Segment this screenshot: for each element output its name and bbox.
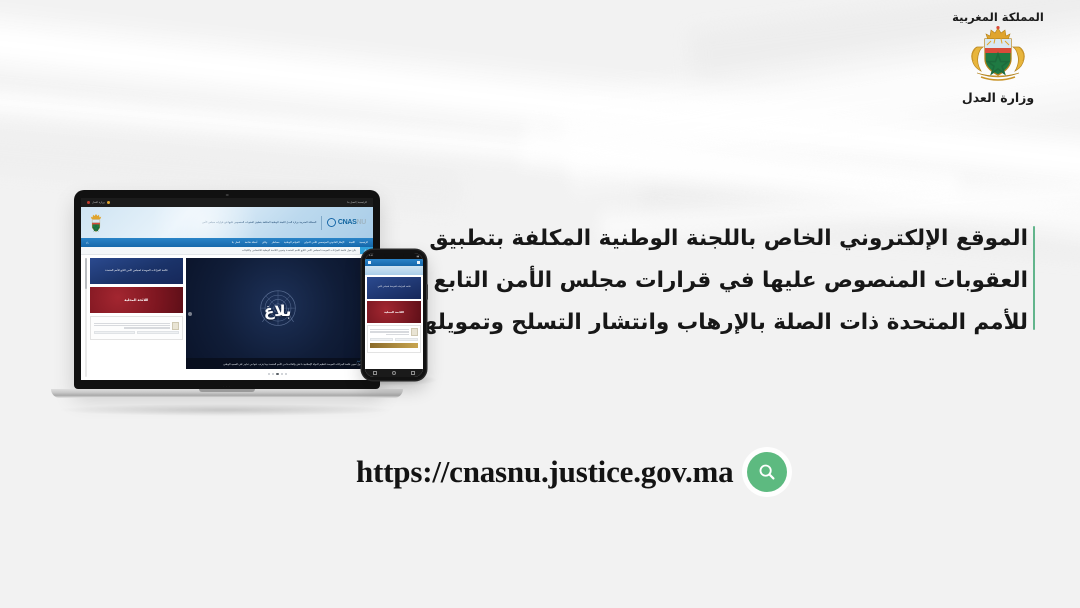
phone-site-header xyxy=(365,259,423,266)
nav-item-documents[interactable]: وثائق xyxy=(262,241,267,244)
carousel-dot[interactable] xyxy=(268,373,270,375)
carousel-dot[interactable] xyxy=(285,373,287,375)
nav-item-contact[interactable]: اتصل بنا xyxy=(232,241,240,244)
phone-screen: 9:41 ▮▮ قائمة الجزاءات الموحدة لمجلس الأ… xyxy=(365,253,423,377)
nav-item-faq[interactable]: أسئلة شائعة xyxy=(245,241,258,244)
phone-status-indicators: ▮▮ xyxy=(417,255,419,258)
phone-notch xyxy=(384,254,404,258)
phone-navigation-bar[interactable] xyxy=(365,369,423,377)
topbar-brand: وزارة العدل xyxy=(92,201,105,204)
hero-carousel[interactable]: بلاغ آخر الأخبار بلاغ حول تحيين قائمة ال… xyxy=(186,258,369,369)
home-icon[interactable] xyxy=(392,371,396,375)
site-body: بلاغ آخر الأخبار بلاغ حول تحيين قائمة ال… xyxy=(81,255,373,380)
phone-card-document[interactable] xyxy=(367,325,421,353)
sidebar-card-consolidated-list[interactable]: قائمة الجزاءات الموحدة لمجلس الأمن التاب… xyxy=(90,258,184,284)
carousel-caption: آخر الأخبار بلاغ حول تحيين قائمة الجزاءا… xyxy=(186,358,369,369)
ministry-label: وزارة العدل xyxy=(938,90,1058,105)
phone-document-row xyxy=(370,328,418,336)
recents-icon[interactable] xyxy=(411,371,415,375)
search-badge[interactable] xyxy=(747,452,787,492)
laptop-shadow xyxy=(60,404,390,416)
document-text-lines xyxy=(94,323,171,329)
document-thumbnail-icon xyxy=(411,328,418,336)
site-header-right: المملكة المغربية وزارة العدل اللجنة الوط… xyxy=(202,216,366,230)
moroccan-coat-of-arms-icon xyxy=(961,25,1035,89)
topbar-dot xyxy=(107,201,110,204)
hamburger-icon[interactable] xyxy=(368,261,371,264)
news-ticker: أخبار بلاغ حول قائمة الجزاءات الموحدة لم… xyxy=(81,247,373,255)
sidebar-card-document-buttons xyxy=(94,331,180,334)
sidebar-card-document-row xyxy=(94,322,180,330)
cnasnu-logo[interactable]: CNASNU xyxy=(327,218,366,227)
ministry-emblem: المملكة المغربية وزارة العدل xyxy=(938,10,1058,105)
cnasnu-logo-text: CNASNU xyxy=(338,219,366,226)
nav-item-committee[interactable]: اللجنة xyxy=(349,241,355,244)
website-url-row[interactable]: https://cnasnu.justice.gov.ma xyxy=(356,452,787,492)
news-ticker-text[interactable]: بلاغ حول قائمة الجزاءات الموحدة لمجلس ال… xyxy=(238,249,360,252)
laptop-brand-mark: · · · xyxy=(74,384,380,388)
cnasnu-logo-part2: NU xyxy=(356,219,366,226)
topbar-dot xyxy=(87,201,90,204)
back-icon[interactable] xyxy=(373,371,377,375)
search-icon xyxy=(756,461,778,483)
headline-accent-bar xyxy=(1033,226,1035,330)
phone-gold-banner xyxy=(370,343,418,348)
site-header: المملكة المغربية وزارة العدل اللجنة الوط… xyxy=(81,207,373,238)
laptop-camera-icon xyxy=(226,194,229,197)
phone-body: قائمة الجزاءات الموحدة لمجلس الأمن اللائ… xyxy=(365,275,423,369)
document-text-lines xyxy=(370,329,409,335)
document-more-button[interactable] xyxy=(94,331,136,334)
laptop-lid: وزارة العدل الرئيسية | اتصل بنا xyxy=(74,190,380,389)
phone-mockup: 9:41 ▮▮ قائمة الجزاءات الموحدة لمجلس الأ… xyxy=(362,250,426,380)
document-download-button[interactable] xyxy=(395,338,418,341)
document-more-button[interactable] xyxy=(370,338,393,341)
sidebar-card-local-list[interactable]: اللائحة المحلية xyxy=(90,287,184,313)
site-header-ministry-text: المملكة المغربية وزارة العدل اللجنة الوط… xyxy=(202,221,316,225)
carousel-prev-icon[interactable] xyxy=(188,312,192,316)
user-icon[interactable] xyxy=(417,261,420,264)
nav-item-home[interactable]: الرئيسية xyxy=(359,241,368,244)
home-icon[interactable]: ⌂ xyxy=(86,240,88,245)
phone-hero-banner xyxy=(365,266,423,275)
site-header-crest-icon xyxy=(88,212,104,234)
laptop-screen: وزارة العدل الرئيسية | اتصل بنا xyxy=(81,198,373,380)
cnasnu-website: وزارة العدل الرئيسية | اتصل بنا xyxy=(81,198,373,380)
document-download-button[interactable] xyxy=(137,331,179,334)
website-url-text[interactable]: https://cnasnu.justice.gov.ma xyxy=(356,454,733,490)
nav-item-legal-framework[interactable]: الإطار القانوني المؤسسي للأمن الدولي xyxy=(304,241,344,244)
phone-card-consolidated-list[interactable]: قائمة الجزاءات الموحدة لمجلس الأمن xyxy=(367,277,421,299)
phone-status-time: 9:41 xyxy=(369,255,373,257)
carousel-dot[interactable] xyxy=(281,373,283,375)
site-header-divider xyxy=(321,216,322,230)
phone-card-local-list[interactable]: اللائحة المحلية xyxy=(367,301,421,323)
headline-line-1: الموقع الإلكتروني الخاص باللجنة الوطنية … xyxy=(470,218,1028,260)
kingdom-label: المملكة المغربية xyxy=(938,10,1058,24)
site-main-column: بلاغ آخر الأخبار بلاغ حول تحيين قائمة ال… xyxy=(186,258,369,377)
site-nav-items: الرئيسية اللجنة الإطار القانوني المؤسسي … xyxy=(232,241,368,244)
headline-line-2: العقوبات المنصوص عليها في قرارات مجلس ال… xyxy=(470,260,1028,302)
nav-item-procedures[interactable]: مساطر xyxy=(272,241,280,244)
page-scrollbar[interactable] xyxy=(85,258,87,377)
cnasnu-logo-part1: CNAS xyxy=(338,219,357,226)
headline-block: الموقع الإلكتروني الخاص باللجنة الوطنية … xyxy=(470,218,1028,344)
site-nav[interactable]: الرئيسية اللجنة الإطار القانوني المؤسسي … xyxy=(81,238,373,247)
site-topbar: وزارة العدل الرئيسية | اتصل بنا xyxy=(81,198,373,207)
phone-document-buttons xyxy=(370,338,418,341)
topbar-left: وزارة العدل xyxy=(87,201,110,204)
nav-item-national-lists[interactable]: القوائم الوطنية xyxy=(284,241,299,244)
cnasnu-logo-ring-icon xyxy=(327,218,336,227)
carousel-caption-text: بلاغ حول تحيين قائمة الجزاءات الموحدة لت… xyxy=(189,363,366,367)
carousel-dot-active[interactable] xyxy=(276,373,279,375)
laptop-mockup: وزارة العدل الرئيسية | اتصل بنا xyxy=(74,190,380,398)
laptop-base xyxy=(51,389,403,398)
carousel-dot[interactable] xyxy=(272,373,274,375)
carousel-dots[interactable] xyxy=(186,371,369,377)
headline-line-3: للأمم المتحدة ذات الصلة بالإرهاب وانتشار… xyxy=(470,302,1028,344)
carousel-headline: بلاغ xyxy=(264,302,291,320)
document-thumbnail-icon xyxy=(172,322,179,330)
sidebar-card-document[interactable] xyxy=(90,316,184,340)
site-sidebar: قائمة الجزاءات الموحدة لمجلس الأمن التاب… xyxy=(90,258,184,377)
topbar-links[interactable]: الرئيسية | اتصل بنا xyxy=(347,201,367,204)
